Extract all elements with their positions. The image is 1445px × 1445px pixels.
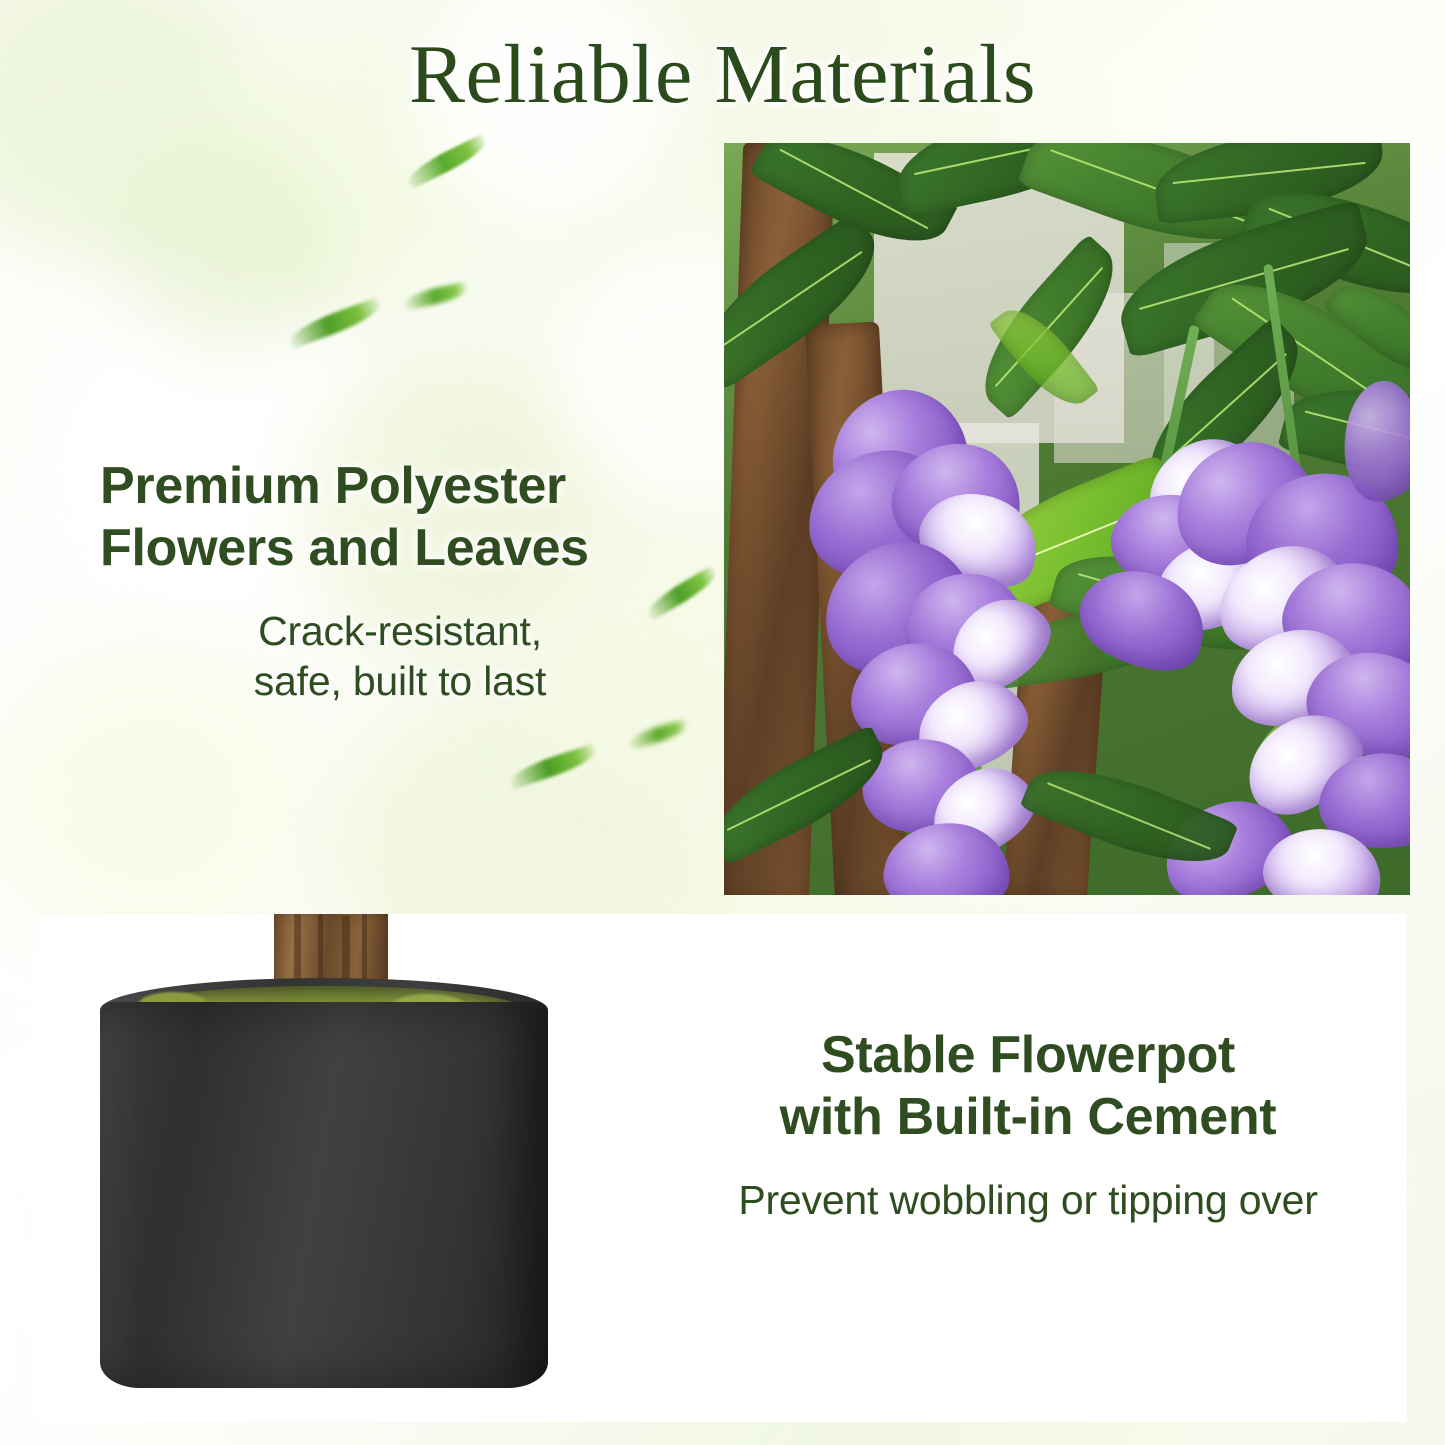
flowerpot-panel: Stable Flowerpot with Built-in Cement Pr… xyxy=(38,914,1407,1422)
feature-polyester-text: Premium Polyester Flowers and Leaves Cra… xyxy=(100,455,700,706)
feature-sub-line: Prevent wobbling or tipping over xyxy=(658,1175,1398,1225)
feature-heading-line: Premium Polyester xyxy=(100,455,700,517)
infographic-canvas: Reliable Materials xyxy=(0,0,1445,1445)
floating-leaf-icon xyxy=(507,744,598,790)
flowerpot-photo xyxy=(38,914,658,1422)
floating-leaf-icon xyxy=(404,134,490,189)
bokeh-blob xyxy=(120,140,340,350)
plant-closeup-photo xyxy=(724,143,1410,895)
feature-sub-line: Crack-resistant, xyxy=(100,606,700,656)
flowerpot-body xyxy=(100,1002,548,1388)
floating-leaf-icon xyxy=(286,297,383,349)
feature-heading-line: Stable Flowerpot xyxy=(658,1024,1398,1086)
feature-sub-line: safe, built to last xyxy=(100,656,700,706)
floating-leaf-icon xyxy=(403,282,469,311)
feature-flowerpot-text: Stable Flowerpot with Built-in Cement Pr… xyxy=(658,1024,1398,1225)
floating-leaf-icon xyxy=(627,719,689,750)
feature-heading-line: Flowers and Leaves xyxy=(100,517,700,579)
page-title: Reliable Materials xyxy=(0,26,1445,123)
feature-heading-line: with Built-in Cement xyxy=(658,1086,1398,1148)
